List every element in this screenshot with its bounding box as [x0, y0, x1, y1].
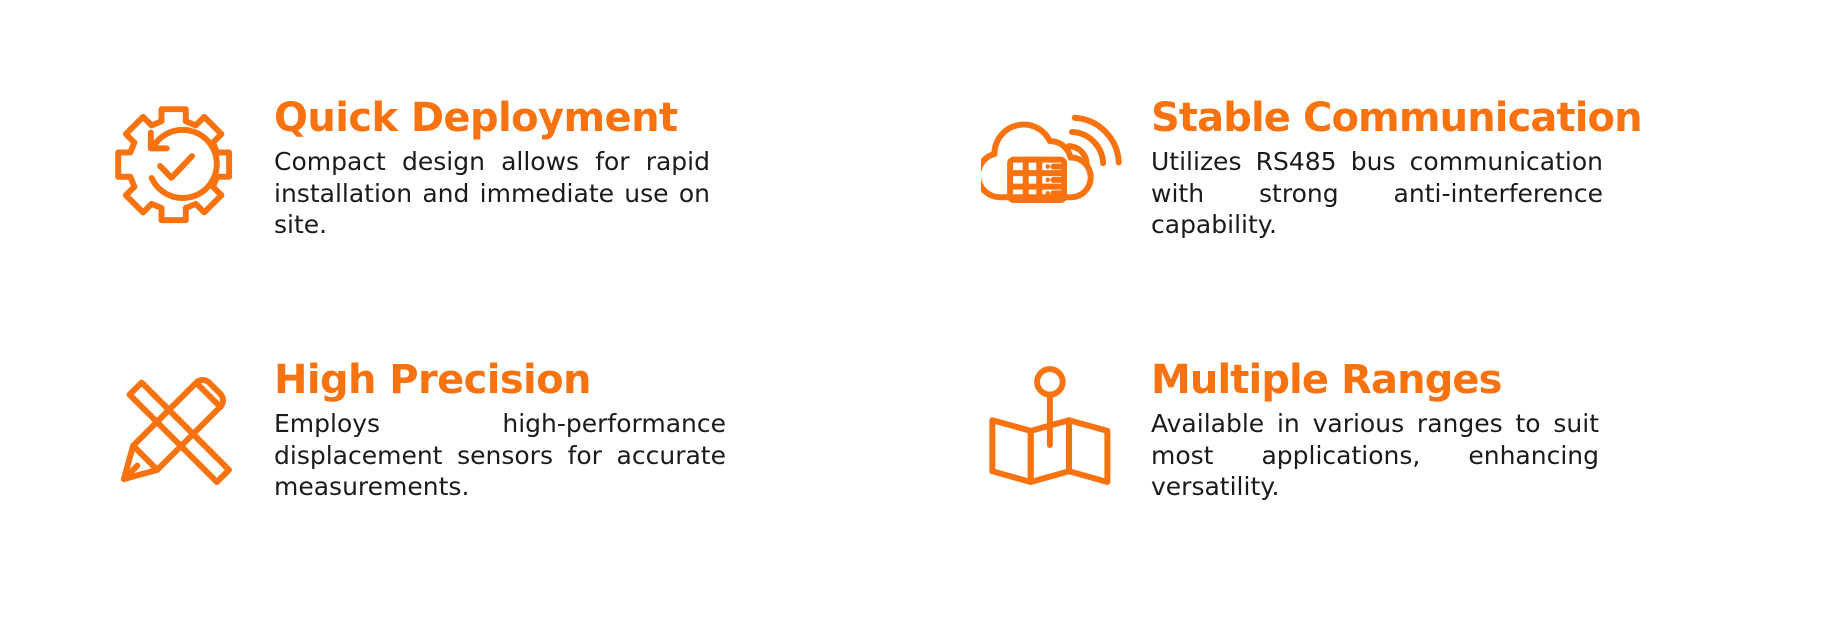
feature-card-quick-deployment: Quick Deployment Compact design allows f… — [0, 0, 919, 245]
feature-title: Quick Deployment — [274, 97, 891, 140]
ruler-pencil-icon — [100, 357, 250, 507]
feature-title: Multiple Ranges — [1151, 359, 1810, 402]
feature-description: Employs high-performance displace­ment s… — [274, 408, 726, 503]
cloud-server-signal-icon — [977, 95, 1127, 245]
map-pin-icon — [977, 357, 1127, 507]
gear-clock-icon — [100, 95, 250, 245]
feature-description: Available in various ranges to suit most… — [1151, 408, 1599, 503]
feature-text-block: Quick Deployment Compact design allows f… — [274, 95, 891, 241]
feature-description: Utilizes RS485 bus communication with st… — [1151, 146, 1603, 241]
feature-card-multiple-ranges: Multiple Ranges Available in various ran… — [919, 317, 1838, 507]
feature-card-stable-communication: Stable Communication Utilizes RS485 bus … — [919, 0, 1838, 245]
feature-title: High Precision — [274, 359, 891, 402]
features-grid: Quick Deployment Compact design allows f… — [0, 0, 1838, 635]
feature-card-high-precision: High Precision Employs high-performance … — [0, 317, 919, 507]
feature-title: Stable Communication — [1151, 97, 1810, 140]
feature-text-block: High Precision Employs high-performance … — [274, 357, 891, 503]
feature-description: Compact design allows for rapid in­stall… — [274, 146, 710, 241]
feature-text-block: Multiple Ranges Available in various ran… — [1151, 357, 1810, 503]
feature-text-block: Stable Communication Utilizes RS485 bus … — [1151, 95, 1810, 241]
